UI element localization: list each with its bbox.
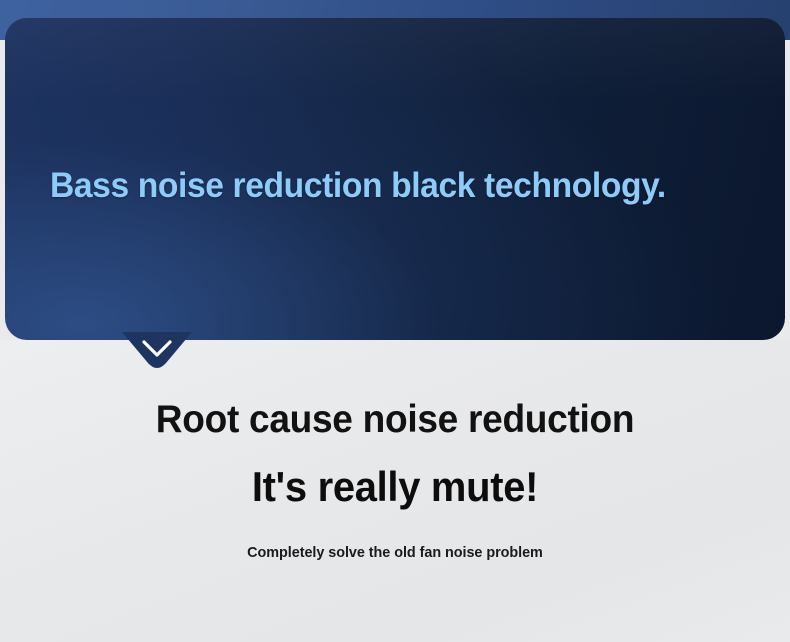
tail-shape	[122, 332, 192, 376]
content-block: Root cause noise reduction It's really m…	[0, 400, 790, 560]
subtitle-text: Completely solve the old fan noise probl…	[16, 545, 774, 560]
headline-primary: Root cause noise reduction	[20, 400, 771, 439]
headline-secondary: It's really mute!	[20, 466, 771, 508]
hero-title: Bass noise reduction black technology.	[50, 168, 666, 203]
speech-bubble-tail	[122, 332, 192, 376]
promo-page: Bass noise reduction black technology. R…	[0, 0, 790, 642]
hero-banner-card: Bass noise reduction black technology.	[5, 18, 785, 340]
